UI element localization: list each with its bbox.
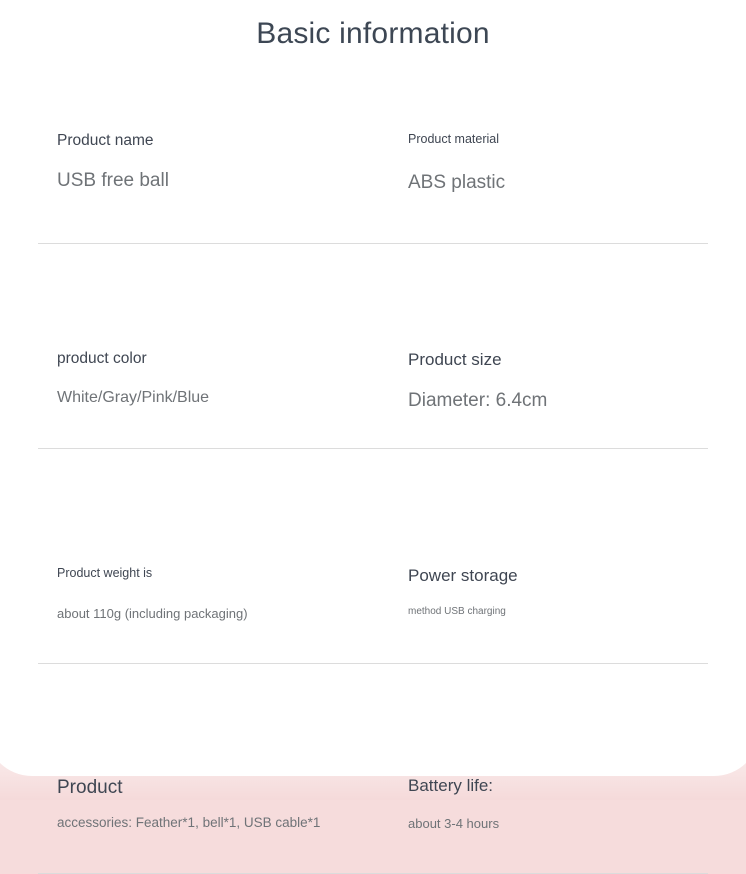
product-spec-page: Basic information Product name USB free … bbox=[0, 0, 746, 800]
spec-value: White/Gray/Pink/Blue bbox=[57, 386, 390, 410]
spec-content: Basic information Product name USB free … bbox=[0, 0, 746, 800]
spec-label: Product name bbox=[57, 130, 390, 152]
spec-cell-product-material: Product material ABS plastic bbox=[390, 130, 746, 196]
page-title: Basic information bbox=[0, 14, 746, 54]
spec-value: accessories: Feather*1, bell*1, USB cabl… bbox=[57, 813, 390, 833]
spec-row-accessories: Product accessories: Feather*1, bell*1, … bbox=[0, 774, 746, 834]
spec-label: Product size bbox=[408, 348, 746, 372]
spacer bbox=[57, 801, 390, 813]
spec-value: ABS plastic bbox=[408, 170, 746, 196]
row-divider bbox=[38, 448, 708, 449]
row-divider bbox=[38, 243, 708, 244]
spec-label: product color bbox=[57, 348, 390, 370]
spec-value: Diameter: 6.4cm bbox=[408, 388, 746, 414]
spacer bbox=[408, 798, 746, 814]
spec-label: Product bbox=[57, 774, 390, 801]
spec-cell-accessories: Product accessories: Feather*1, bell*1, … bbox=[0, 774, 390, 834]
spacer bbox=[57, 152, 390, 168]
spacer bbox=[408, 588, 746, 604]
spec-cell-product-color: product color White/Gray/Pink/Blue bbox=[0, 348, 390, 414]
spec-cell-product-size: Product size Diameter: 6.4cm bbox=[390, 348, 746, 414]
spec-value: USB free ball bbox=[57, 168, 390, 194]
spec-label: Power storage bbox=[408, 564, 746, 588]
row-divider bbox=[38, 663, 708, 664]
spec-row-product-weight: Product weight is about 110g (including … bbox=[0, 564, 746, 624]
table-row: product color White/Gray/Pink/Blue Produ… bbox=[0, 348, 746, 414]
spec-cell-power-storage: Power storage method USB charging bbox=[390, 564, 746, 624]
spec-table: Product name USB free ball Product mater… bbox=[0, 130, 746, 834]
table-row: Product weight is about 110g (including … bbox=[0, 564, 746, 624]
table-row: Product name USB free ball Product mater… bbox=[0, 130, 746, 196]
spacer bbox=[57, 370, 390, 386]
spec-value: about 110g (including packaging) bbox=[57, 604, 390, 624]
spec-value: method USB charging bbox=[408, 604, 746, 620]
spec-cell-product-weight: Product weight is about 110g (including … bbox=[0, 564, 390, 624]
spec-label: Product weight is bbox=[57, 564, 390, 582]
table-row: Product accessories: Feather*1, bell*1, … bbox=[0, 774, 746, 834]
spec-cell-battery-life: Battery life: about 3-4 hours bbox=[390, 774, 746, 834]
spacer bbox=[57, 582, 390, 604]
spec-cell-product-name: Product name USB free ball bbox=[0, 130, 390, 196]
spacer bbox=[408, 148, 746, 170]
spacer bbox=[408, 372, 746, 388]
spec-row-product-name: Product name USB free ball Product mater… bbox=[0, 130, 746, 196]
spec-row-product-color: product color White/Gray/Pink/Blue Produ… bbox=[0, 348, 746, 414]
spec-label: Product material bbox=[408, 130, 746, 148]
spec-label: Battery life: bbox=[408, 774, 746, 798]
spec-value: about 3-4 hours bbox=[408, 814, 746, 834]
